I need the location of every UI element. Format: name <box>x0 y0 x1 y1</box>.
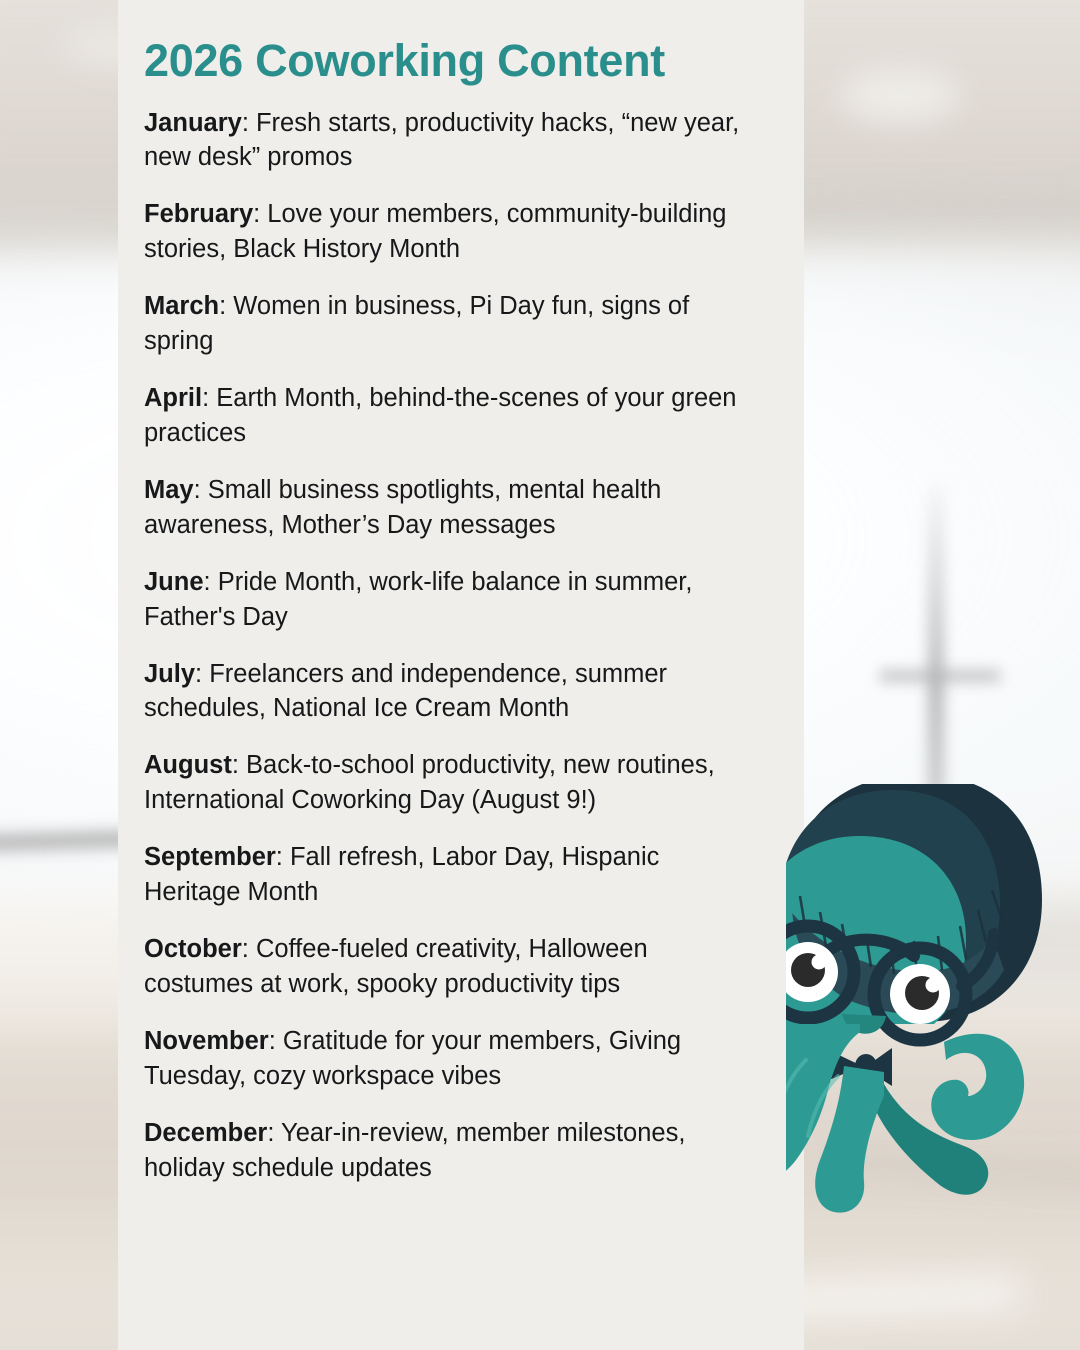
background-window-post <box>928 485 944 885</box>
month-separator: : <box>267 1119 281 1147</box>
month-label: February <box>144 200 253 228</box>
month-label: April <box>144 384 202 412</box>
background-desk-row <box>780 905 1080 1025</box>
month-separator: : <box>269 1027 283 1055</box>
month-topics: Pride Month, work-life balance in summer… <box>144 568 692 631</box>
list-item: January: Fresh starts, productivity hack… <box>144 106 762 176</box>
month-separator: : <box>202 384 216 412</box>
month-label: January <box>144 109 242 137</box>
list-item: August: Back-to-school productivity, new… <box>144 748 762 818</box>
month-label: July <box>144 660 195 688</box>
month-label: June <box>144 568 204 596</box>
month-label: September <box>144 843 276 871</box>
month-label: May <box>144 476 194 504</box>
month-label: March <box>144 292 219 320</box>
month-separator: : <box>204 568 218 596</box>
month-separator: : <box>253 200 267 228</box>
month-label: October <box>144 935 242 963</box>
list-item: May: Small business spotlights, mental h… <box>144 473 762 543</box>
month-separator: : <box>219 292 233 320</box>
month-label: December <box>144 1119 267 1147</box>
background-light-blob <box>840 70 960 122</box>
list-item: February: Love your members, community-b… <box>144 197 762 267</box>
month-label: November <box>144 1027 269 1055</box>
list-item: December: Year-in-review, member milesto… <box>144 1116 762 1186</box>
list-item: July: Freelancers and independence, summ… <box>144 657 762 727</box>
month-separator: : <box>242 109 256 137</box>
list-item: November: Gratitude for your members, Gi… <box>144 1024 762 1094</box>
list-item: March: Women in business, Pi Day fun, si… <box>144 289 762 359</box>
month-label: August <box>144 751 232 779</box>
poster-canvas: 2026 Coworking Content January: Fresh st… <box>0 0 1080 1350</box>
list-item: April: Earth Month, behind-the-scenes of… <box>144 381 762 451</box>
month-separator: : <box>232 751 246 779</box>
month-separator: : <box>276 843 290 871</box>
page-title: 2026 Coworking Content <box>144 36 762 86</box>
list-item: June: Pride Month, work-life balance in … <box>144 565 762 635</box>
list-item: October: Coffee-fueled creativity, Hallo… <box>144 932 762 1002</box>
month-topics: Small business spotlights, mental health… <box>144 476 661 539</box>
content-card: 2026 Coworking Content January: Fresh st… <box>118 0 804 1350</box>
month-topics: Freelancers and independence, summer sch… <box>144 660 667 723</box>
month-topics: Earth Month, behind-the-scenes of your g… <box>144 384 737 447</box>
month-separator: : <box>242 935 256 963</box>
list-item: September: Fall refresh, Labor Day, Hisp… <box>144 840 762 910</box>
month-separator: : <box>195 660 209 688</box>
month-separator: : <box>194 476 208 504</box>
background-window-crossbar <box>880 670 1000 682</box>
background-light-blob <box>975 885 1027 937</box>
